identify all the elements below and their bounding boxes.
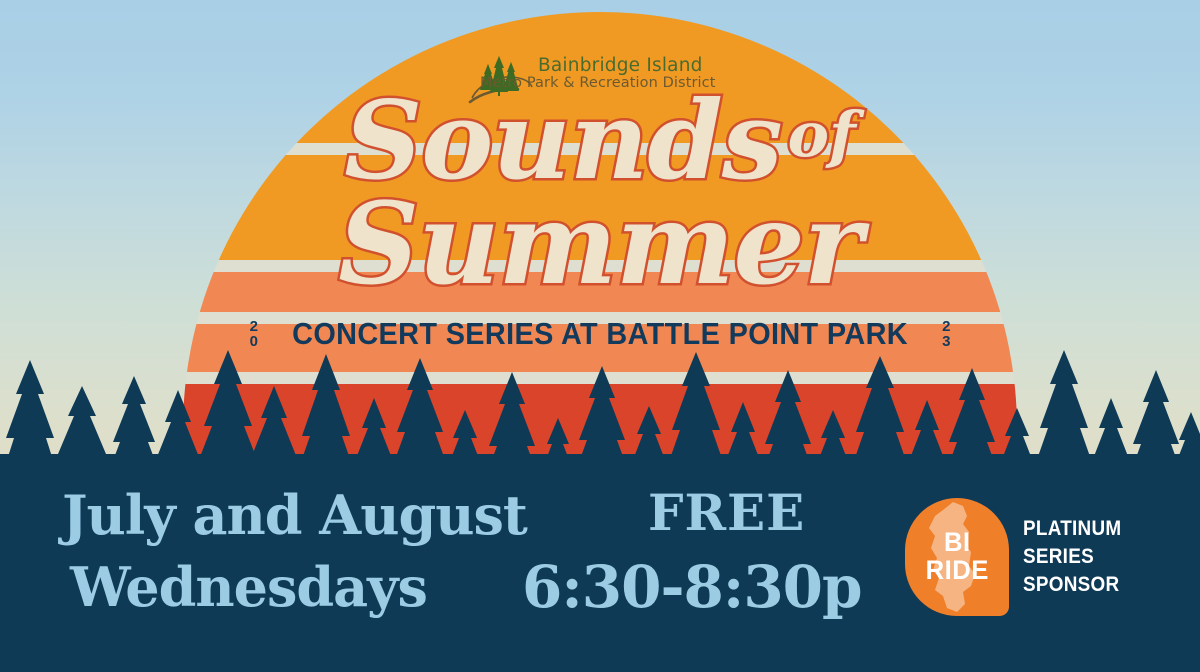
year-right: 2 3 xyxy=(942,319,950,349)
year-left: 2 0 xyxy=(250,319,258,349)
year-right-bottom: 3 xyxy=(942,334,950,349)
park-logo-line1: Bainbridge Island xyxy=(538,56,716,75)
bi-ride-badge: BI RIDE xyxy=(905,498,1009,616)
badge-line-2: RIDE xyxy=(925,557,988,585)
sponsor-block: BI RIDE PLATINUM SERIES SPONSOR xyxy=(905,492,1155,622)
badge-line-1: BI xyxy=(925,529,988,557)
year-left-top: 2 xyxy=(250,319,258,334)
poster-title: Soundsof Summer xyxy=(0,92,1200,296)
event-price: FREE xyxy=(648,488,805,538)
title-word-of: of xyxy=(788,98,856,171)
title-word-summer: Summer xyxy=(0,193,1200,296)
sponsor-tier-text: PLATINUM SERIES SPONSOR xyxy=(1023,515,1121,598)
event-months: July and August xyxy=(62,488,527,542)
sponsor-tier-line-2: SERIES xyxy=(1023,543,1121,571)
title-line-1: Soundsof xyxy=(0,92,1200,191)
subtitle-text: CONCERT SERIES AT BATTLE POINT PARK xyxy=(292,316,908,352)
year-left-bottom: 0 xyxy=(250,334,258,349)
sponsor-tier-line-1: PLATINUM xyxy=(1023,515,1121,543)
event-time: 6:30-8:30p xyxy=(522,558,862,616)
event-days: Wednesdays xyxy=(70,560,427,614)
subtitle-strip: 2 0 CONCERT SERIES AT BATTLE POINT PARK … xyxy=(0,316,1200,352)
poster-canvas: Bainbridge Island Metro Park & Recreatio… xyxy=(0,0,1200,672)
year-right-top: 2 xyxy=(942,319,950,334)
sponsor-tier-line-3: SPONSOR xyxy=(1023,571,1121,599)
bi-ride-label: BI RIDE xyxy=(925,529,988,584)
